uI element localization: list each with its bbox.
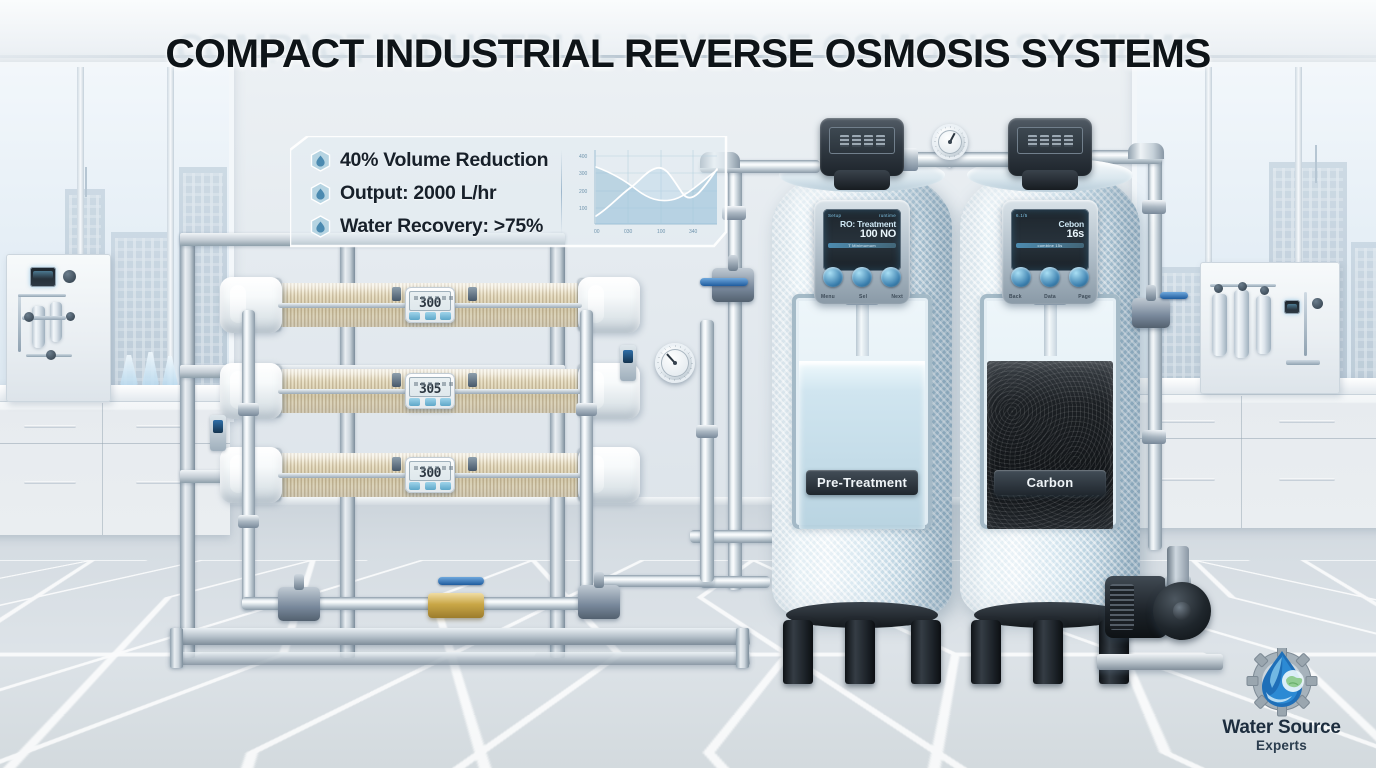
svg-text:200: 200	[579, 189, 588, 195]
gauge-buttons[interactable]	[409, 398, 451, 406]
specs-info-panel: 40% Volume Reduction Output: 2000 L/hr	[290, 136, 730, 248]
cabinet-seam	[102, 403, 103, 535]
cabinet-handle[interactable]	[24, 481, 76, 484]
antenna	[1315, 145, 1317, 183]
panel-divider	[561, 150, 562, 234]
booster-pump	[1105, 560, 1225, 656]
media-bed-carbon	[987, 361, 1113, 529]
skid-foot	[736, 628, 749, 668]
gauge-fitting	[468, 373, 477, 387]
control-valve-head-pre-treatment[interactable]	[820, 118, 904, 176]
equipment-display	[1284, 300, 1300, 314]
filter-vessel	[1234, 290, 1249, 358]
lab-equipment-right	[1200, 262, 1340, 394]
skid-foot	[170, 628, 183, 668]
screen-header: 6.1/5	[1016, 213, 1084, 218]
svg-text:300: 300	[579, 171, 588, 177]
tank-legs	[783, 616, 941, 684]
interconnect-pressure-gauge	[932, 124, 968, 160]
pipe	[18, 294, 21, 352]
tank-nameplate-carbon: Carbon	[994, 470, 1106, 495]
tank-controller-pre-treatment[interactable]: Setup runtime RO: Treatment 100 NO T Min…	[814, 200, 910, 304]
filter-vessel	[1212, 294, 1227, 356]
filter-vessel	[32, 306, 45, 348]
blue-valve-handle[interactable]	[700, 278, 748, 286]
gauge-segment-bar	[414, 382, 454, 386]
screen-header-right: runtime	[879, 213, 896, 218]
lab-equipment-left	[6, 254, 111, 402]
cabinet-handle[interactable]	[1159, 478, 1215, 481]
water-drop-hexagon-icon	[310, 215, 331, 238]
brass-ball-valve[interactable]	[428, 593, 484, 618]
tank-nameplate-pre-treatment: Pre-Treatment	[806, 470, 918, 495]
antenna	[85, 167, 87, 197]
motor-cooling-fins	[1110, 584, 1134, 630]
cabinet-handle[interactable]	[1279, 420, 1335, 423]
analog-pressure-gauge	[655, 343, 695, 383]
cabinet-seam	[1241, 396, 1242, 528]
equipment-display	[30, 267, 56, 287]
conductivity-sensor	[210, 415, 226, 451]
gauge-screen: 300	[409, 291, 451, 311]
tank-pre-treatment: Setup runtime RO: Treatment 100 NO T Min…	[772, 168, 952, 620]
tank-leg	[971, 620, 1001, 684]
valve-knob[interactable]	[1260, 286, 1269, 295]
scene: 300 305	[0, 0, 1376, 768]
control-knob[interactable]	[63, 270, 76, 283]
screen-status-bar: T Minimumum	[828, 243, 896, 248]
gauge-fitting	[392, 373, 401, 387]
gauge-face	[661, 349, 689, 377]
gauge-buttons[interactable]	[409, 312, 451, 320]
tank-leg	[783, 620, 813, 684]
pipe-union	[238, 403, 259, 416]
svg-text:030: 030	[624, 229, 633, 235]
spec-label: 40% Volume Reduction	[340, 149, 548, 172]
membrane-top: 300	[220, 277, 640, 333]
frame-post	[180, 233, 195, 658]
valve-knob[interactable]	[1214, 284, 1223, 293]
tank-controller-carbon[interactable]: 6.1/5 Cebon 16s combine 15s Back Data Pa…	[1002, 200, 1098, 304]
cabinet-handle[interactable]	[1159, 420, 1215, 423]
controller-key[interactable]	[852, 267, 872, 287]
specs-list: 40% Volume Reduction Output: 2000 L/hr	[310, 144, 560, 243]
water-drop-hexagon-icon	[310, 182, 331, 205]
screen-status-bar: combine 15s	[1016, 243, 1084, 248]
pipe-elbow	[1128, 143, 1164, 159]
controller-keypad[interactable]	[823, 267, 901, 287]
gauge-screen: 300	[409, 461, 451, 481]
tank-leg	[845, 620, 875, 684]
key-label: Data	[1044, 294, 1056, 300]
spec-item-output: Output: 2000 L/hr	[310, 177, 560, 210]
pipe	[1286, 360, 1320, 365]
valve-knob[interactable]	[46, 350, 56, 360]
controller-screen: Setup runtime RO: Treatment 100 NO T Min…	[823, 209, 901, 271]
vertical-pipe	[580, 310, 593, 610]
controller-key-labels: Back Data Page	[1009, 294, 1091, 300]
pipe-union	[238, 515, 259, 528]
gauge-fitting	[392, 287, 401, 301]
controller-key[interactable]	[1011, 267, 1031, 287]
controller-screen: 6.1/5 Cebon 16s combine 15s	[1011, 209, 1089, 271]
valve-knob[interactable]	[1312, 298, 1323, 309]
gauge-face	[938, 130, 962, 154]
vertical-pipe	[700, 320, 714, 582]
screen-line-2: 100 NO	[828, 229, 896, 240]
pipe-union	[696, 425, 718, 438]
ball-valve-outlet[interactable]	[278, 587, 320, 621]
pressure-gauge-digital[interactable]: 300	[405, 457, 455, 493]
key-label: Sel	[859, 294, 867, 300]
water-drop-gear-icon	[1236, 648, 1328, 718]
key-label: Menu	[821, 294, 835, 300]
controller-key[interactable]	[1040, 267, 1060, 287]
filter-vessel	[1256, 296, 1271, 354]
pipe	[1304, 292, 1307, 356]
water-drop-hexagon-icon	[310, 149, 331, 172]
svg-text:100: 100	[657, 229, 666, 235]
spec-label: Water Recovery: >75%	[340, 215, 543, 238]
valve-knob[interactable]	[1238, 282, 1247, 291]
skid-base-beam	[170, 652, 750, 665]
screen-header-left: 6.1/5	[1016, 213, 1028, 218]
gauge-fitting	[392, 457, 401, 471]
controller-key[interactable]	[823, 267, 843, 287]
blue-valve-handle[interactable]	[1160, 292, 1188, 299]
controller-keypad[interactable]	[1011, 267, 1089, 287]
pump-volute	[1153, 582, 1211, 640]
flow-sensor	[620, 345, 636, 381]
membrane-bottom: 300	[220, 447, 640, 503]
screen-header: Setup runtime	[828, 213, 896, 218]
tank-leg	[911, 620, 941, 684]
svg-text:100: 100	[579, 206, 588, 212]
gauge-segment-bar	[414, 466, 454, 470]
tank-carbon: 6.1/5 Cebon 16s combine 15s Back Data Pa…	[960, 168, 1140, 620]
logo-title: Water Source	[1209, 718, 1354, 738]
controller-key-labels: Menu Sel Next	[821, 294, 903, 300]
media-bed-water	[799, 361, 925, 529]
gauge-needle	[666, 353, 676, 363]
key-label: Next	[891, 294, 903, 300]
screen-header-left: Setup	[828, 213, 841, 218]
svg-text:340: 340	[689, 229, 698, 235]
pressure-gauge-digital[interactable]: 305	[405, 373, 455, 409]
ball-valve-return[interactable]	[578, 585, 620, 619]
valve-head-base	[834, 170, 890, 190]
control-valve-head-carbon[interactable]	[1008, 118, 1092, 176]
cabinet-handle[interactable]	[1279, 478, 1335, 481]
svg-text:400: 400	[579, 154, 588, 160]
controller-key[interactable]	[881, 267, 901, 287]
spec-label: Output: 2000 L/hr	[340, 182, 496, 205]
valve-head-display	[1017, 127, 1083, 154]
pipe-union	[1142, 200, 1166, 214]
vertical-pipe	[242, 310, 255, 610]
pipe-union	[576, 403, 597, 416]
gauge-screen: 305	[409, 377, 451, 397]
spec-item-volume-reduction: 40% Volume Reduction	[310, 144, 560, 177]
gauge-needle	[949, 133, 955, 143]
gauge-fitting	[468, 287, 477, 301]
spec-item-water-recovery: Water Recovery: >75%	[310, 210, 560, 243]
screen-line-2: 16s	[1016, 229, 1084, 240]
key-label: Back	[1009, 294, 1022, 300]
skid-base-beam	[170, 628, 750, 645]
gauge-buttons[interactable]	[409, 482, 451, 490]
brand-logo: Water Source Experts	[1209, 648, 1354, 760]
gauge-segment-bar	[414, 296, 454, 300]
logo-subtitle: Experts	[1209, 738, 1354, 753]
page-title: COMPACT INDUSTRIAL REVERSE OSMOSIS SYSTE…	[0, 32, 1376, 77]
valve-head-display	[829, 127, 895, 154]
gauge-fitting	[468, 457, 477, 471]
pipe	[18, 294, 66, 297]
pump-base-plate	[1097, 654, 1223, 670]
valve-head-base	[1022, 170, 1078, 190]
outlet-valve[interactable]	[1132, 298, 1170, 328]
filter-vessel	[50, 302, 62, 342]
svg-text:00: 00	[594, 229, 600, 235]
pressure-gauge-digital[interactable]: 300	[405, 287, 455, 323]
key-label: Page	[1078, 294, 1091, 300]
pump-hub	[1173, 602, 1191, 620]
valve-knob[interactable]	[24, 312, 34, 322]
tank-leg	[1033, 620, 1063, 684]
reverse-osmosis-skid: 300 305	[180, 215, 770, 695]
performance-chart: 400 300 200 100 00 030 100 340	[575, 146, 720, 238]
cabinet-handle[interactable]	[24, 425, 76, 428]
pipe-union	[1142, 430, 1166, 444]
blue-valve-handle[interactable]	[438, 577, 484, 585]
controller-key[interactable]	[1069, 267, 1089, 287]
valve-knob[interactable]	[66, 312, 75, 321]
